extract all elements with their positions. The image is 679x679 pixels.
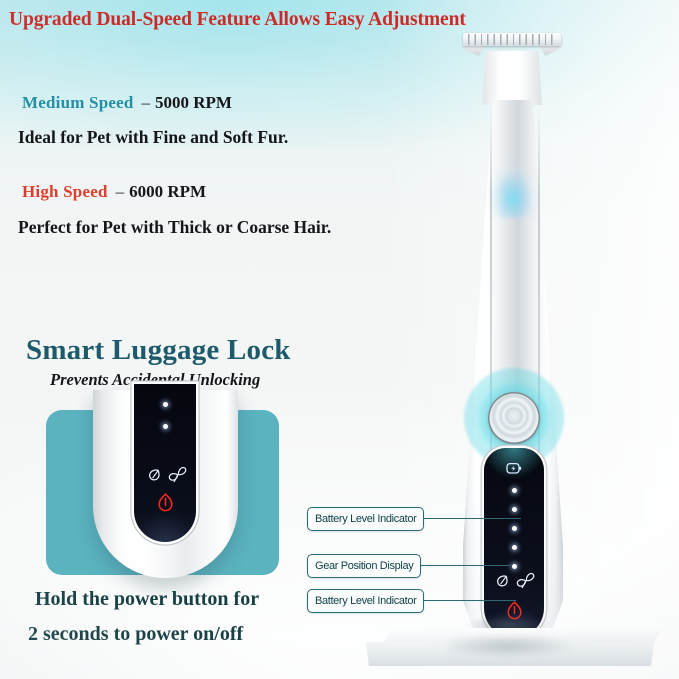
background-vignette bbox=[0, 0, 679, 679]
product-infographic: Upgraded Dual-Speed Feature Allows Easy … bbox=[0, 0, 679, 679]
